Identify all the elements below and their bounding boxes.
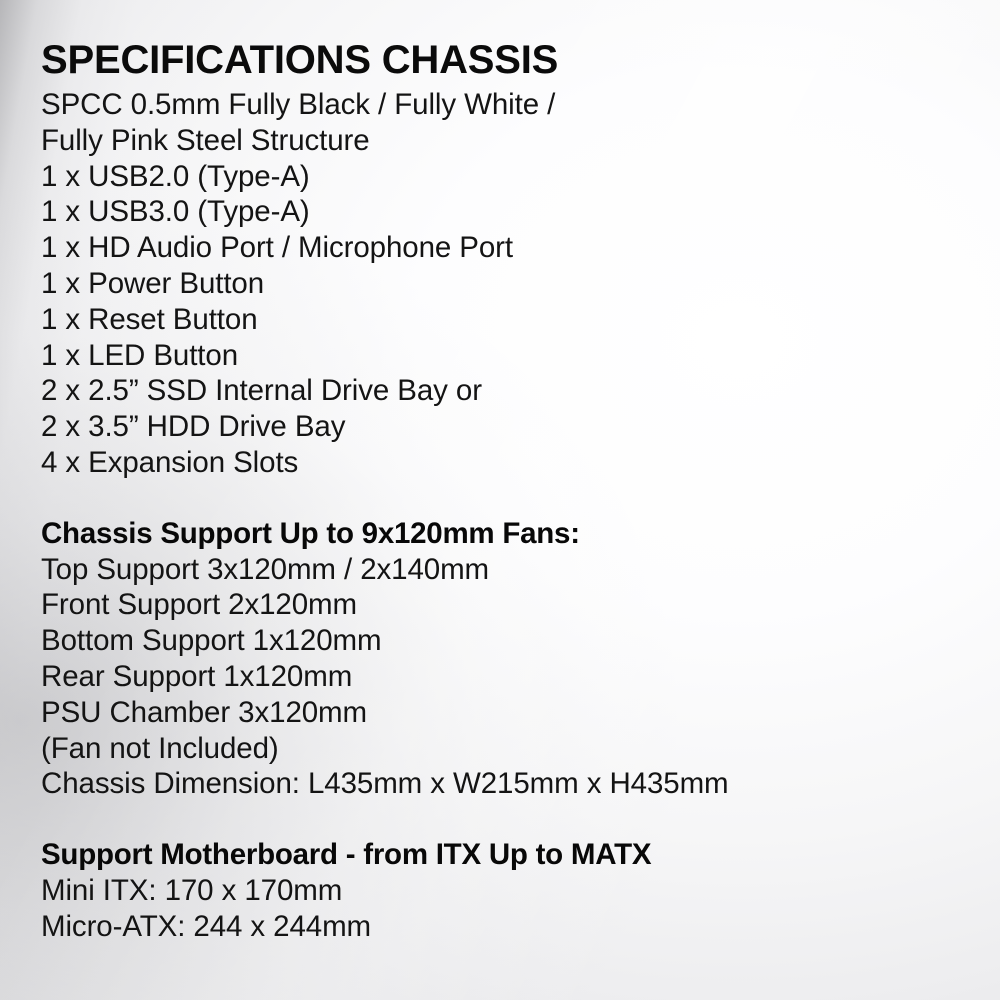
spec-line: Chassis Dimension: L435mm x W215mm x H43… [41,766,1000,802]
spec-line: Top Support 3x120mm / 2x140mm [41,552,1000,588]
spec-line: 1 x Reset Button [41,302,1000,338]
spec-line: Micro-ATX: 244 x 244mm [41,909,1000,945]
spec-line: Rear Support 1x120mm [41,659,1000,695]
spec-section-chassis-general: SPCC 0.5mm Fully Black / Fully White /Fu… [41,87,1000,481]
sections-container: SPCC 0.5mm Fully Black / Fully White /Fu… [41,87,1000,945]
spec-line: Front Support 2x120mm [41,587,1000,623]
section-gap [41,802,1000,837]
section-gap [41,481,1000,516]
specifications-content: SPECIFICATIONS CHASSIS SPCC 0.5mm Fully … [0,0,1000,945]
spec-line: 2 x 2.5” SSD Internal Drive Bay or [41,373,1000,409]
spec-line: PSU Chamber 3x120mm [41,695,1000,731]
spec-line: 4 x Expansion Slots [41,445,1000,481]
spec-line: (Fan not Included) [41,731,1000,767]
spec-section-fan-support: Chassis Support Up to 9x120mm Fans:Top S… [41,516,1000,802]
spec-section-motherboard-support: Support Motherboard - from ITX Up to MAT… [41,837,1000,944]
specifications-sheet: SPECIFICATIONS CHASSIS SPCC 0.5mm Fully … [0,0,1000,1000]
spec-line: 2 x 3.5” HDD Drive Bay [41,409,1000,445]
spec-line: 1 x Power Button [41,266,1000,302]
spec-line: SPCC 0.5mm Fully Black / Fully White / [41,87,1000,123]
spec-line: 1 x LED Button [41,338,1000,374]
spec-line: 1 x USB2.0 (Type-A) [41,159,1000,195]
spec-line: Fully Pink Steel Structure [41,123,1000,159]
spec-line: Bottom Support 1x120mm [41,623,1000,659]
section-heading: Support Motherboard - from ITX Up to MAT… [41,837,1000,873]
spec-line: Mini ITX: 170 x 170mm [41,873,1000,909]
page-title: SPECIFICATIONS CHASSIS [41,36,1000,84]
section-heading: Chassis Support Up to 9x120mm Fans: [41,516,1000,552]
spec-line: 1 x HD Audio Port / Microphone Port [41,230,1000,266]
spec-line: 1 x USB3.0 (Type-A) [41,194,1000,230]
